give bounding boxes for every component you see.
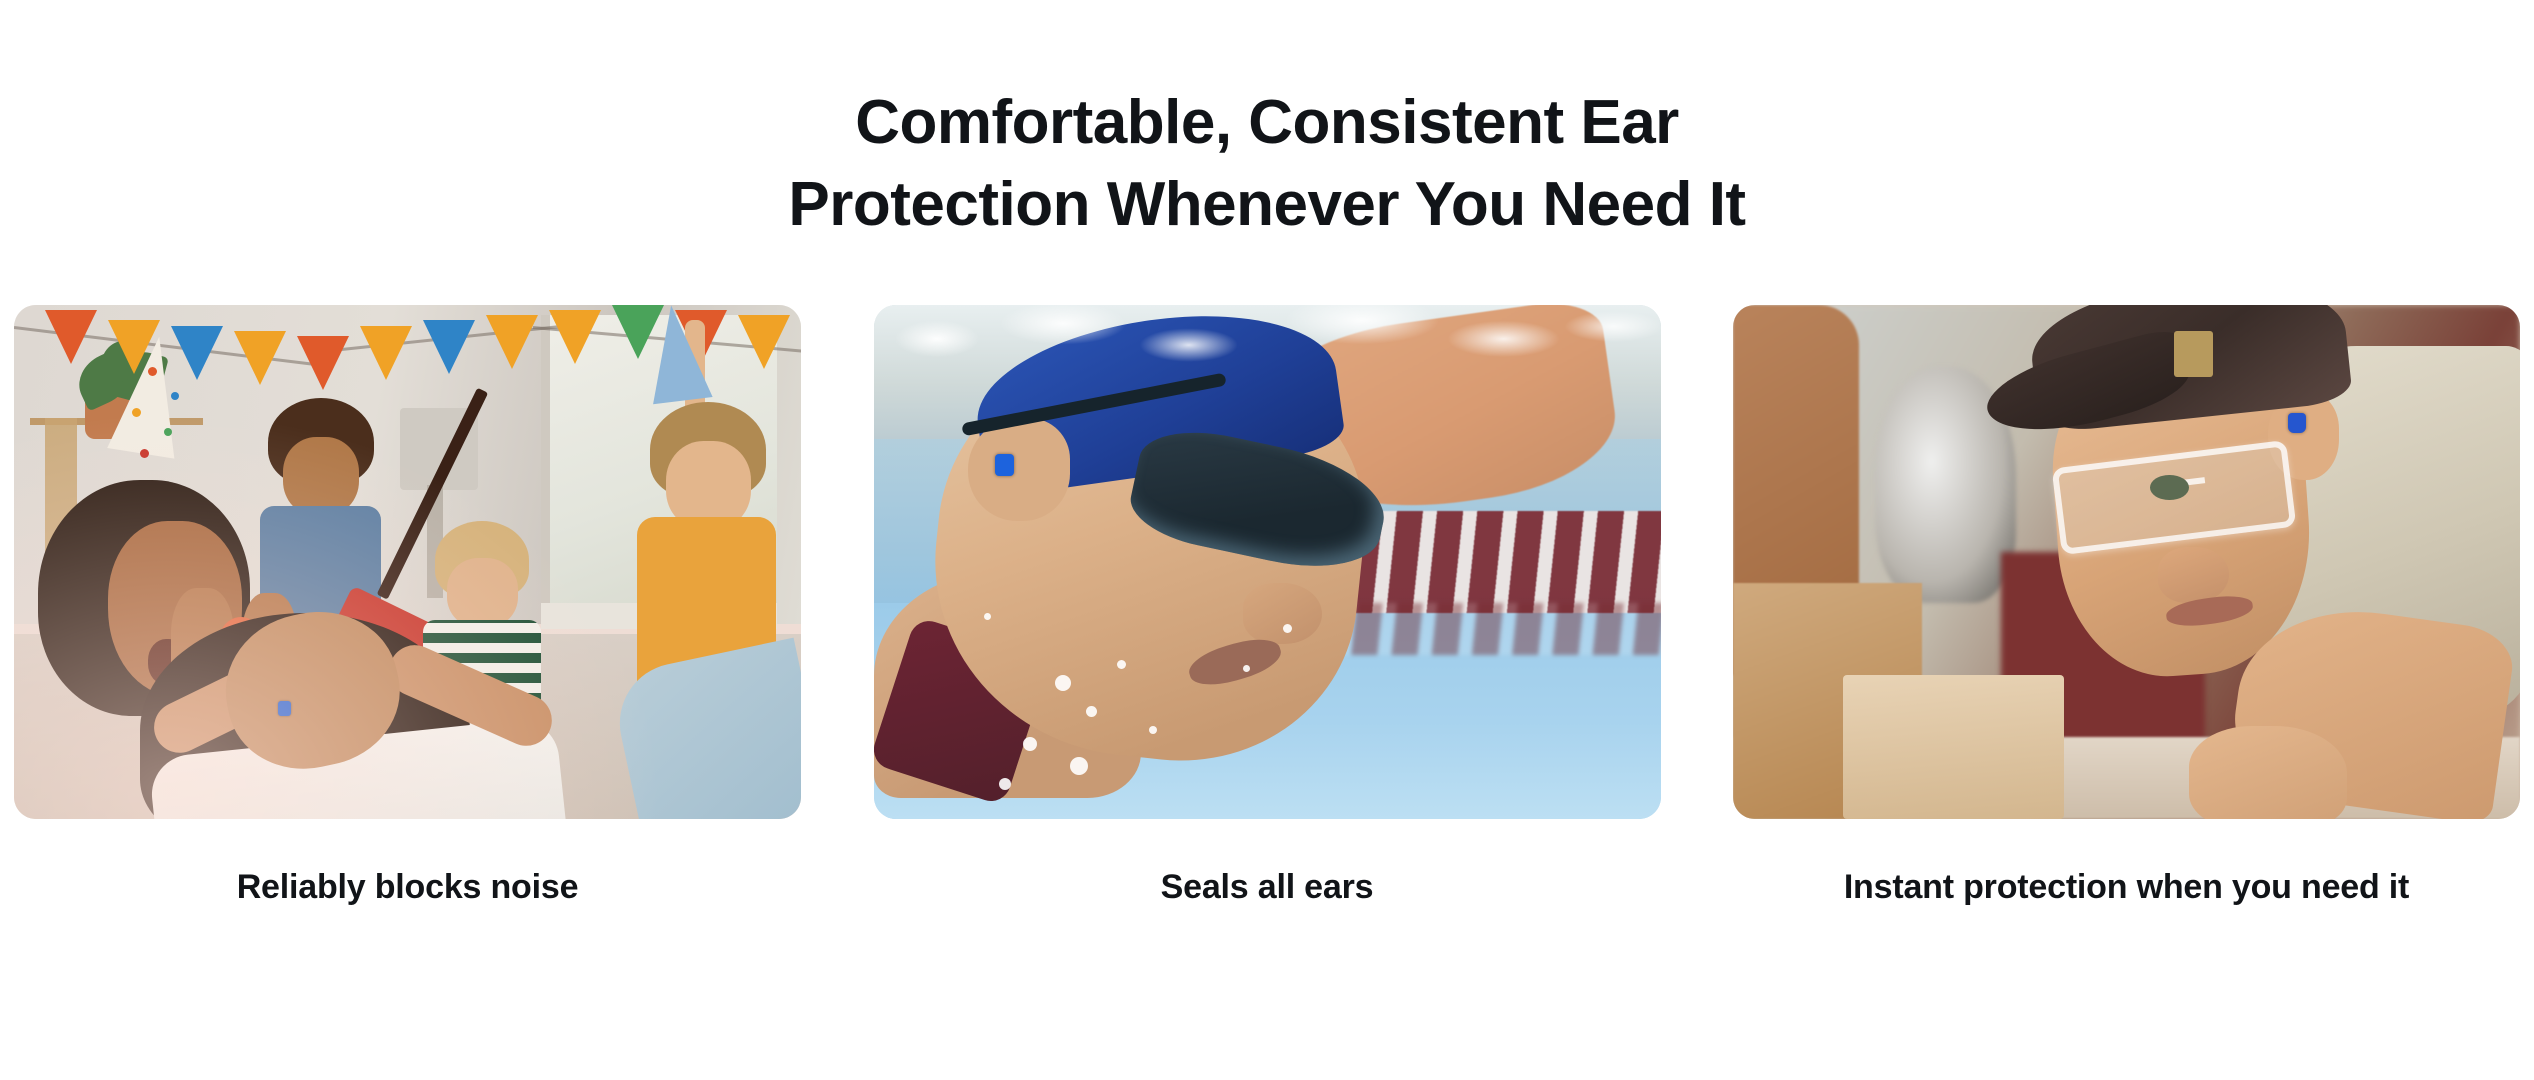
feature-caption: Instant protection when you need it [1827,867,2427,907]
feature-card-blocks-noise[interactable]: Reliably blocks noise [14,305,801,907]
photo-kids-party [14,305,801,819]
page-title-line-2: Protection Whenever You Need It [0,174,2534,236]
photo-swimmer [874,305,1661,819]
feature-caption: Reliably blocks noise [14,867,801,907]
photo-carpenter [1733,305,2520,819]
page-title-line-1: Comfortable, Consistent Ear [0,92,2534,154]
page-title: Comfortable, Consistent Ear Protection W… [0,92,2534,236]
feature-card-row: Reliably blocks noise [0,305,2534,907]
feature-section: Comfortable, Consistent Ear Protection W… [0,0,2534,1080]
earplug-in-ear [2288,413,2306,433]
feature-card-seals-all-ears[interactable]: Seals all ears [874,305,1661,907]
feature-card-instant-protection[interactable]: Instant protection when you need it [1733,305,2520,907]
feature-caption: Seals all ears [874,867,1661,907]
